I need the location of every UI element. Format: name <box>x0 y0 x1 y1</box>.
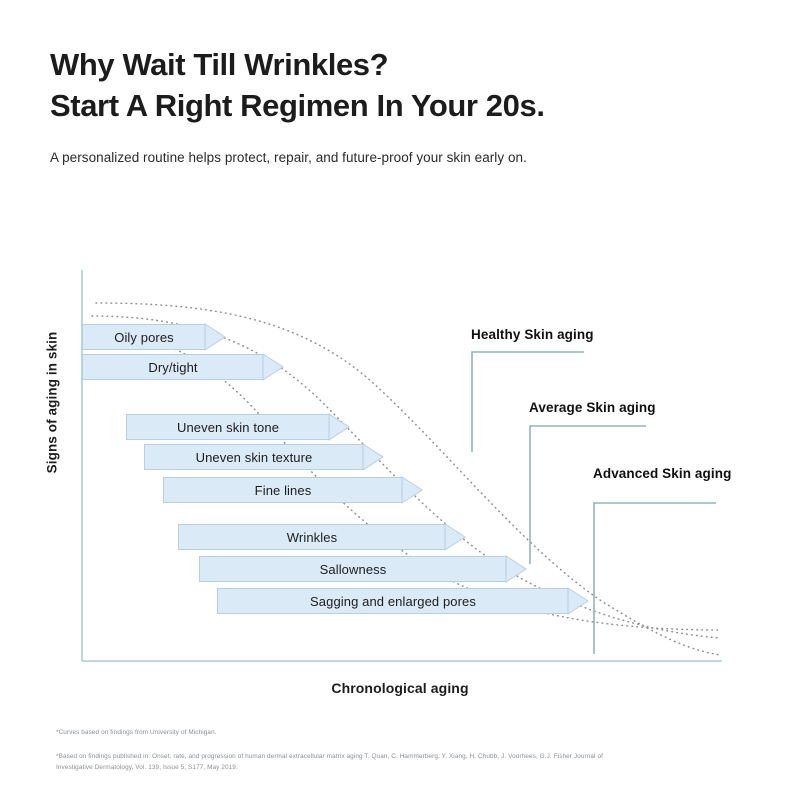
arrow-tip-icon <box>205 324 225 350</box>
infographic-page: Why Wait Till Wrinkles? Start A Right Re… <box>0 0 800 800</box>
stage-bars: Oily pores Dry/tight Uneven skin tone Un… <box>0 0 800 800</box>
stage-bar-label: Uneven skin texture <box>196 450 313 465</box>
aging-chart: Signs of aging in skin Chronological agi… <box>0 0 800 800</box>
stage-bar-label: Oily pores <box>114 330 174 345</box>
stage-bar-label: Dry/tight <box>148 360 197 375</box>
stage-bar-label: Sagging and enlarged pores <box>310 594 476 609</box>
stage-bar[interactable]: Fine lines <box>163 477 403 503</box>
stage-bar[interactable]: Uneven skin texture <box>144 444 364 470</box>
stage-bar[interactable]: Sallowness <box>199 556 507 582</box>
stage-bar-label: Uneven skin tone <box>177 420 279 435</box>
stage-bar[interactable]: Dry/tight <box>82 354 264 380</box>
arrow-tip-icon <box>445 524 465 550</box>
stage-bar[interactable]: Uneven skin tone <box>126 414 330 440</box>
footnotes: *Curves based on findings from Universit… <box>56 728 616 774</box>
stage-bar[interactable]: Sagging and enlarged pores <box>217 588 569 614</box>
stage-bar[interactable]: Oily pores <box>82 324 206 350</box>
stage-bar-label: Wrinkles <box>287 530 337 545</box>
arrow-tip-icon <box>329 414 349 440</box>
arrow-tip-icon <box>402 477 422 503</box>
arrow-tip-icon <box>263 354 283 380</box>
curve-label-average: Average Skin aging <box>529 400 656 415</box>
arrow-tip-icon <box>506 556 526 582</box>
footnote-source-publication: *Based on findings published in: Onset, … <box>56 752 616 774</box>
stage-bar[interactable]: Wrinkles <box>178 524 446 550</box>
arrow-tip-icon <box>363 444 383 470</box>
stage-bar-label: Sallowness <box>320 562 387 577</box>
curve-label-advanced: Advanced Skin aging <box>593 466 731 481</box>
arrow-tip-icon <box>568 588 588 614</box>
footnote-source-michigan: *Curves based on findings from Universit… <box>56 728 616 739</box>
stage-bar-label: Fine lines <box>255 483 312 498</box>
curve-label-healthy: Healthy Skin aging <box>471 327 594 342</box>
